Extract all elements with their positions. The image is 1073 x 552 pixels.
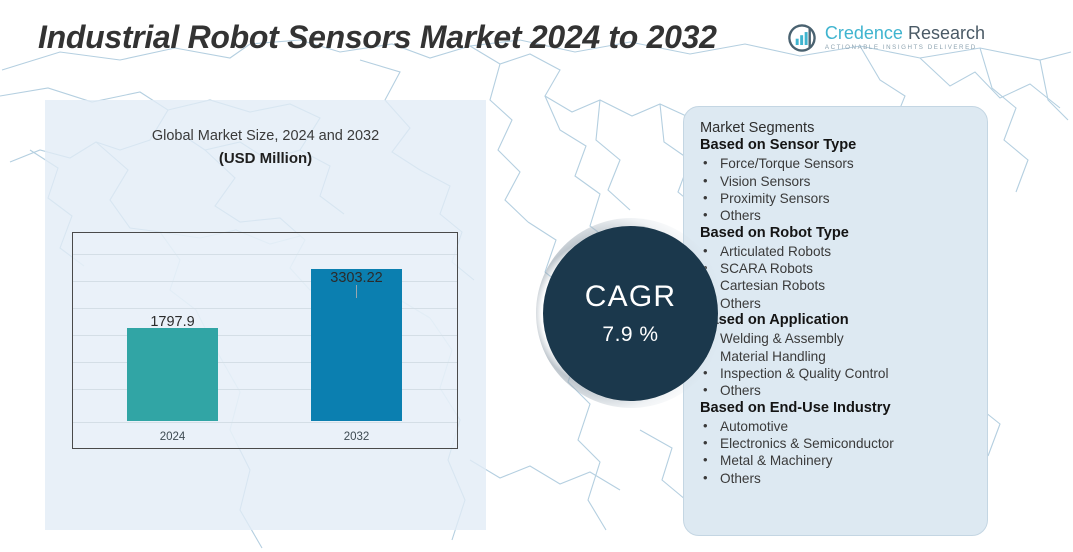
bullet-icon: • [700,418,720,435]
segment-item[interactable]: •Metal & Machinery [700,452,973,469]
bullet-icon: • [700,173,720,190]
segment-item[interactable]: •Others [700,295,973,312]
segment-item-label: Electronics & Semiconductor [720,435,973,452]
segment-item[interactable]: •Others [700,470,973,487]
segment-item[interactable]: •Welding & Assembly [700,330,973,347]
segment-item-label: Welding & Assembly [720,330,973,347]
segment-item-label: SCARA Robots [720,260,973,277]
segment-item[interactable]: •Inspection & Quality Control [700,365,973,382]
bullet-icon: • [700,435,720,452]
category-label-2032: 2032 [311,431,402,443]
segment-item[interactable]: •Others [700,207,973,224]
bullet-icon: • [700,155,720,172]
segment-group-title: Based on Robot Type [700,225,973,243]
bar-value-2024: 1797.9 [127,314,218,330]
segment-item-label: Others [720,382,973,399]
segment-item-label: Others [720,207,973,224]
segments-heading: Market Segments [700,119,973,137]
segments-group-list: Based on Sensor Type•Force/Torque Sensor… [700,137,973,487]
bar-chart-plot-area: 1797.9 3303.22 2024 2032 [72,232,458,449]
segment-item[interactable]: •Proximity Sensors [700,190,973,207]
brand-name-part2: Research [908,23,985,43]
bar-2024[interactable] [127,328,218,421]
brand-name: Credence Research [825,24,985,42]
chart-subtitle: (USD Million) [45,150,486,167]
category-label-2024: 2024 [127,431,218,443]
segment-item-label: Automotive [720,418,973,435]
cagr-circle: CAGR 7.9 % [543,226,718,401]
segment-item-label: Force/Torque Sensors [720,155,973,172]
cagr-label: CAGR [585,282,676,312]
brand-logo[interactable]: Credence Research Actionable Insights De… [788,24,985,52]
segment-item[interactable]: •Material Handling [700,348,973,365]
segment-item-label: Cartesian Robots [720,277,973,294]
segment-group-title: Based on End-Use Industry [700,400,973,418]
chart-title: Global Market Size, 2024 and 2032 [45,128,486,144]
segment-group-title: Based on Application [700,312,973,330]
segment-item[interactable]: •Vision Sensors [700,173,973,190]
segment-item[interactable]: •Cartesian Robots [700,277,973,294]
bar-chart-circle-icon [788,24,816,52]
segment-group: Based on Robot Type•Articulated Robots•S… [700,225,973,313]
segment-group-title: Based on Sensor Type [700,137,973,155]
page-title: Industrial Robot Sensors Market 2024 to … [38,19,717,56]
segment-group: Based on Application•Welding & Assembly•… [700,312,973,400]
gridline [73,422,457,423]
segment-item[interactable]: •Force/Torque Sensors [700,155,973,172]
segment-item-label: Others [720,295,973,312]
bullet-icon: • [700,190,720,207]
segment-item-label: Vision Sensors [720,173,973,190]
brand-name-part1: Credence [825,23,903,43]
gridline [73,254,457,255]
segment-item-label: Metal & Machinery [720,452,973,469]
segment-group: Based on End-Use Industry•Automotive•Ele… [700,400,973,488]
cagr-value: 7.9 % [602,324,658,345]
segment-item[interactable]: •Electronics & Semiconductor [700,435,973,452]
header: Industrial Robot Sensors Market 2024 to … [0,0,1073,72]
segment-item-label: Inspection & Quality Control [720,365,973,382]
segment-item-label: Material Handling [720,348,973,365]
bullet-icon: • [700,207,720,224]
bar-value-tick [356,285,357,298]
segment-item-label: Articulated Robots [720,243,973,260]
segment-item-label: Others [720,470,973,487]
segment-item[interactable]: •SCARA Robots [700,260,973,277]
brand-text: Credence Research Actionable Insights De… [825,24,985,51]
segment-item[interactable]: •Others [700,382,973,399]
segment-item-label: Proximity Sensors [720,190,973,207]
chart-panel: Global Market Size, 2024 and 2032 (USD M… [45,100,486,530]
segment-item[interactable]: •Articulated Robots [700,243,973,260]
bar-value-2032: 3303.22 [311,270,402,286]
bullet-icon: • [700,470,720,487]
segment-group: Based on Sensor Type•Force/Torque Sensor… [700,137,973,225]
segment-item[interactable]: •Automotive [700,418,973,435]
bullet-icon: • [700,452,720,469]
brand-tagline: Actionable Insights Delivered [825,45,985,51]
cagr-badge: CAGR 7.9 % [528,248,738,388]
